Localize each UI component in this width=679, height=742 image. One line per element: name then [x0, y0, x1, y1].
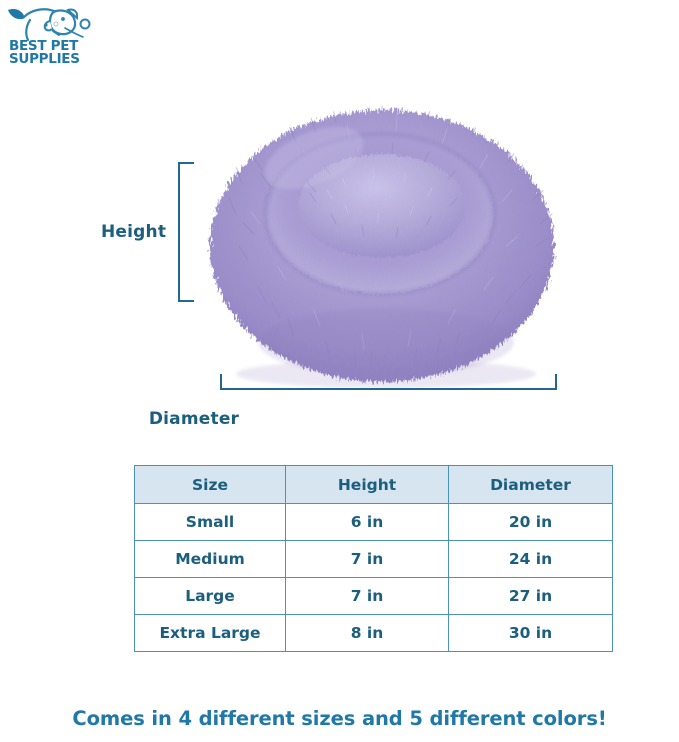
table-header-row: Size Height Diameter — [135, 466, 613, 504]
height-dimension-bracket — [178, 162, 194, 302]
cell-diameter: 30 in — [449, 615, 613, 652]
cell-size: Small — [135, 504, 286, 541]
table-row: Large 7 in 27 in — [135, 578, 613, 615]
column-header-diameter: Diameter — [449, 466, 613, 504]
table-row: Small 6 in 20 in — [135, 504, 613, 541]
size-chart-table: Size Height Diameter Small 6 in 20 in Me… — [134, 465, 613, 652]
cell-size: Extra Large — [135, 615, 286, 652]
diameter-dimension-label: Diameter — [0, 409, 679, 429]
height-dimension-label: Height — [101, 222, 166, 242]
cell-size: Large — [135, 578, 286, 615]
brand-name-line2: SUPPLIES — [9, 53, 105, 66]
lavender-donut-pet-bed-photo — [196, 74, 568, 394]
cell-diameter: 24 in — [449, 541, 613, 578]
column-header-height: Height — [286, 466, 449, 504]
diameter-dimension-label-text: Diameter — [149, 409, 239, 429]
cell-height: 6 in — [286, 504, 449, 541]
table-row: Medium 7 in 24 in — [135, 541, 613, 578]
brand-logo: BEST PET SUPPLIES — [6, 4, 106, 76]
tagline-text: Comes in 4 different sizes and 5 differe… — [0, 707, 679, 730]
cell-height: 7 in — [286, 541, 449, 578]
cell-diameter: 20 in — [449, 504, 613, 541]
cell-diameter: 27 in — [449, 578, 613, 615]
cell-size: Medium — [135, 541, 286, 578]
column-header-size: Size — [135, 466, 286, 504]
brand-wordmark: BEST PET SUPPLIES — [9, 40, 105, 66]
cell-height: 8 in — [286, 615, 449, 652]
cell-height: 7 in — [286, 578, 449, 615]
table-row: Extra Large 8 in 30 in — [135, 615, 613, 652]
diameter-dimension-bracket — [220, 374, 557, 390]
